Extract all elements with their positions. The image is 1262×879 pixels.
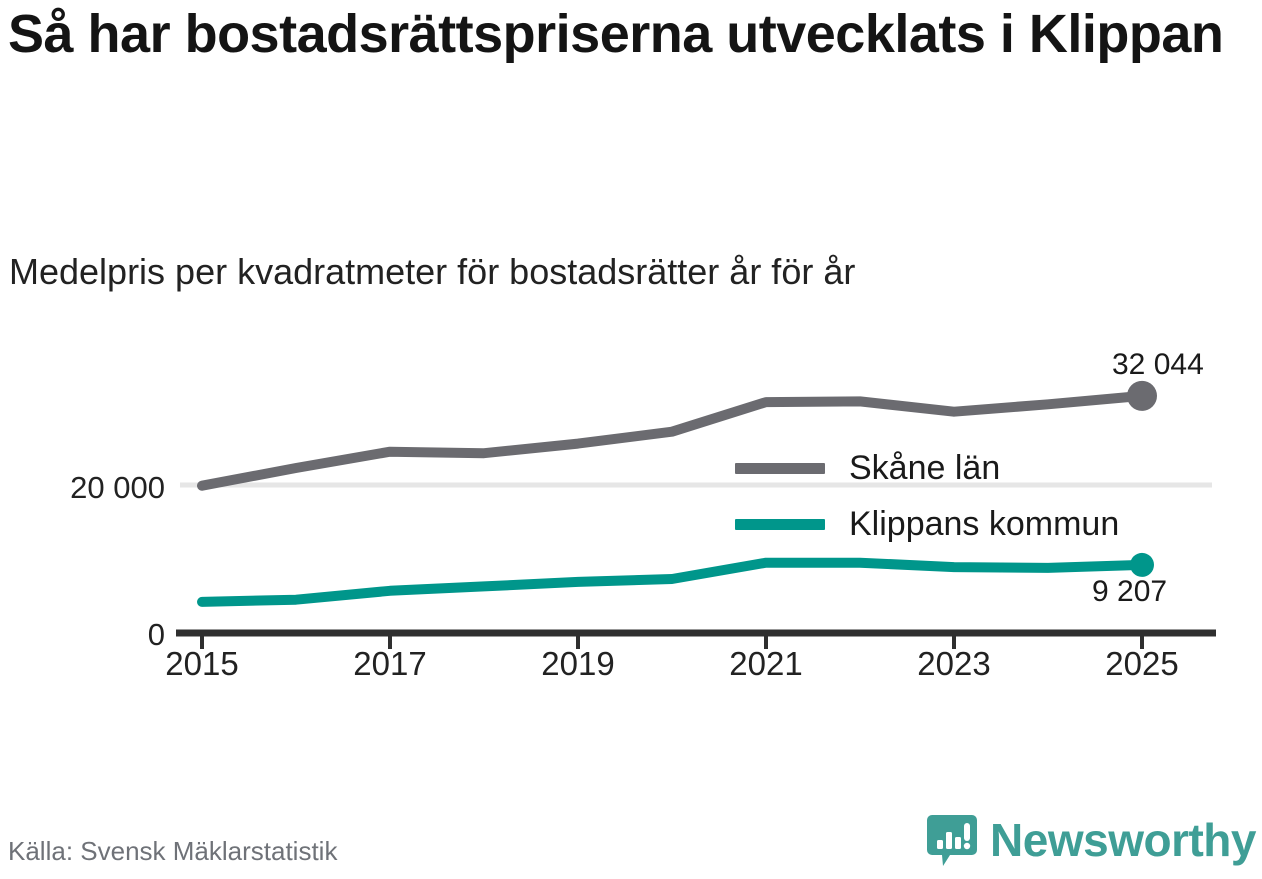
legend-item-klippans-kommun[interactable]: Klippans kommun bbox=[735, 496, 1235, 552]
legend-swatch-klippans-kommun bbox=[735, 519, 825, 530]
legend-label-skane-lan: Skåne län bbox=[849, 449, 1000, 488]
chart-legend: Skåne län Klippans kommun bbox=[735, 440, 1235, 552]
x-axis-label-2019: 2019 bbox=[518, 645, 638, 683]
series-end-marker-klippans-kommun bbox=[1130, 553, 1154, 577]
legend-swatch-skane-lan bbox=[735, 463, 825, 474]
end-value-label-klippans-kommun: 9 207 bbox=[1092, 575, 1167, 609]
legend-label-klippans-kommun: Klippans kommun bbox=[849, 505, 1119, 544]
page-title: Så har bostadsrättspriserna utvecklats i… bbox=[8, 6, 1248, 62]
x-axis-label-2017: 2017 bbox=[330, 645, 450, 683]
x-axis-label-2025: 2025 bbox=[1082, 645, 1202, 683]
series-line-klippans-kommun bbox=[202, 563, 1142, 602]
brand-wordmark: Newsworthy bbox=[990, 813, 1256, 867]
source-note: Källa: Svensk Mäklarstatistik bbox=[8, 836, 337, 867]
y-axis-label-0: 0 bbox=[0, 617, 165, 653]
brand-logo: Newsworthy bbox=[926, 812, 1256, 868]
end-value-label-skane-lan: 32 044 bbox=[1112, 348, 1204, 382]
y-axis-label-20000: 20 000 bbox=[0, 470, 165, 506]
page-subtitle: Medelpris per kvadratmeter för bostadsrä… bbox=[9, 252, 1249, 292]
series-end-marker-skane-lan bbox=[1127, 381, 1157, 411]
legend-item-skane-lan[interactable]: Skåne län bbox=[735, 440, 1235, 496]
x-axis-label-2015: 2015 bbox=[142, 645, 262, 683]
infographic-page: Så har bostadsrättspriserna utvecklats i… bbox=[0, 0, 1262, 879]
x-axis-label-2023: 2023 bbox=[894, 645, 1014, 683]
line-chart: 20 000 0 2015 2017 2019 2021 2023 2025 3… bbox=[0, 330, 1262, 710]
x-axis-label-2021: 2021 bbox=[706, 645, 826, 683]
speech-bubble-bar-chart-icon bbox=[926, 813, 978, 867]
